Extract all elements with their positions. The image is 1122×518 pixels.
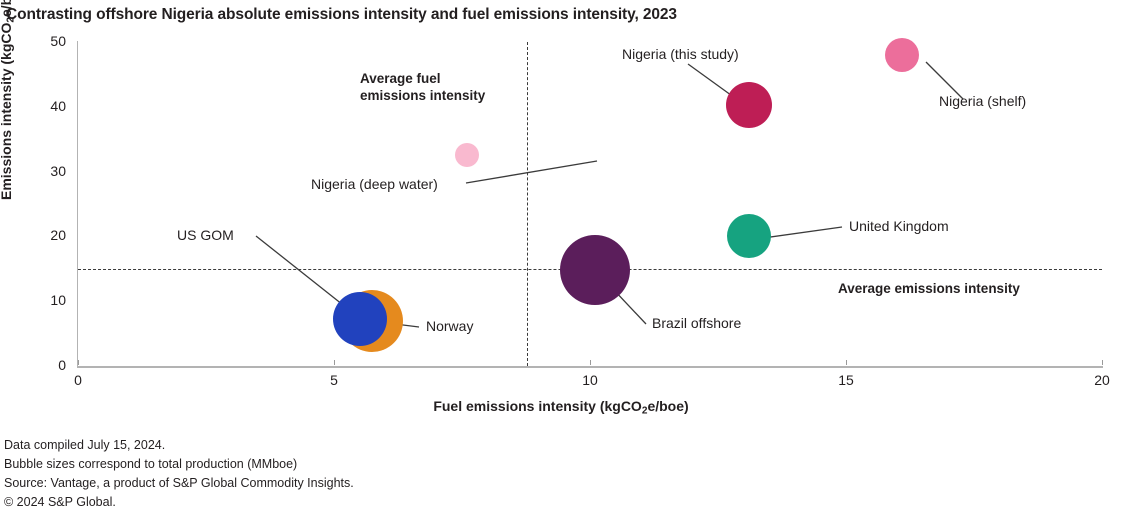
x-tick-mark [846, 360, 847, 365]
bubble-nigeria-this-study[interactable] [726, 82, 772, 128]
point-label-nigeria-this-study: Nigeria (this study) [622, 46, 739, 62]
x-tick-label: 0 [74, 372, 82, 388]
point-label-brazil-offshore: Brazil offshore [652, 315, 741, 331]
point-label-nigeria-deep-water: Nigeria (deep water) [311, 176, 438, 192]
footer-notes: Data compiled July 15, 2024. Bubble size… [4, 436, 354, 512]
x-tick-label: 20 [1094, 372, 1110, 388]
y-tick-label: 50 [14, 33, 66, 49]
bubble-brazil-offshore[interactable] [560, 235, 630, 305]
y-tick-label: 30 [14, 163, 66, 179]
x-tick-mark [590, 360, 591, 365]
y-tick-label: 40 [14, 98, 66, 114]
bubble-united-kingdom[interactable] [727, 214, 771, 258]
point-label-united-kingdom: United Kingdom [849, 218, 949, 234]
bubble-nigeria-deep-water[interactable] [455, 143, 479, 167]
annotation-average-fuel-intensity: Average fuel emissions intensity [360, 71, 485, 105]
x-tick-label: 10 [582, 372, 598, 388]
reference-line-average-fuel [527, 42, 528, 366]
leader-nigeria-deep-water [466, 161, 597, 183]
y-tick-label: 0 [14, 357, 66, 373]
point-label-norway: Norway [426, 318, 473, 334]
x-axis-line [77, 366, 1103, 368]
point-label-nigeria-shelf: Nigeria (shelf) [939, 93, 1026, 109]
bubble-nigeria-shelf[interactable] [885, 38, 919, 72]
y-tick-label: 20 [14, 227, 66, 243]
x-tick-mark [1102, 360, 1103, 365]
footer-line-2: Bubble sizes correspond to total product… [4, 455, 354, 474]
y-axis-line [77, 41, 78, 367]
y-tick-label: 10 [14, 292, 66, 308]
point-label-us-gom: US GOM [177, 227, 234, 243]
x-axis-title: Fuel emissions intensity (kgCO2e/boe) [0, 398, 1122, 417]
footer-line-4: © 2024 S&P Global. [4, 493, 354, 512]
footer-line-1: Data compiled July 15, 2024. [4, 436, 354, 455]
footer-line-3: Source: Vantage, a product of S&P Global… [4, 474, 354, 493]
x-tick-label: 15 [838, 372, 854, 388]
x-tick-mark [78, 360, 79, 365]
annotation-average-emissions-intensity: Average emissions intensity [838, 281, 1020, 298]
x-tick-label: 5 [330, 372, 338, 388]
page-title: Contrasting offshore Nigeria absolute em… [6, 6, 1106, 24]
bubble-us-gom[interactable] [333, 292, 387, 346]
x-tick-mark [334, 360, 335, 365]
